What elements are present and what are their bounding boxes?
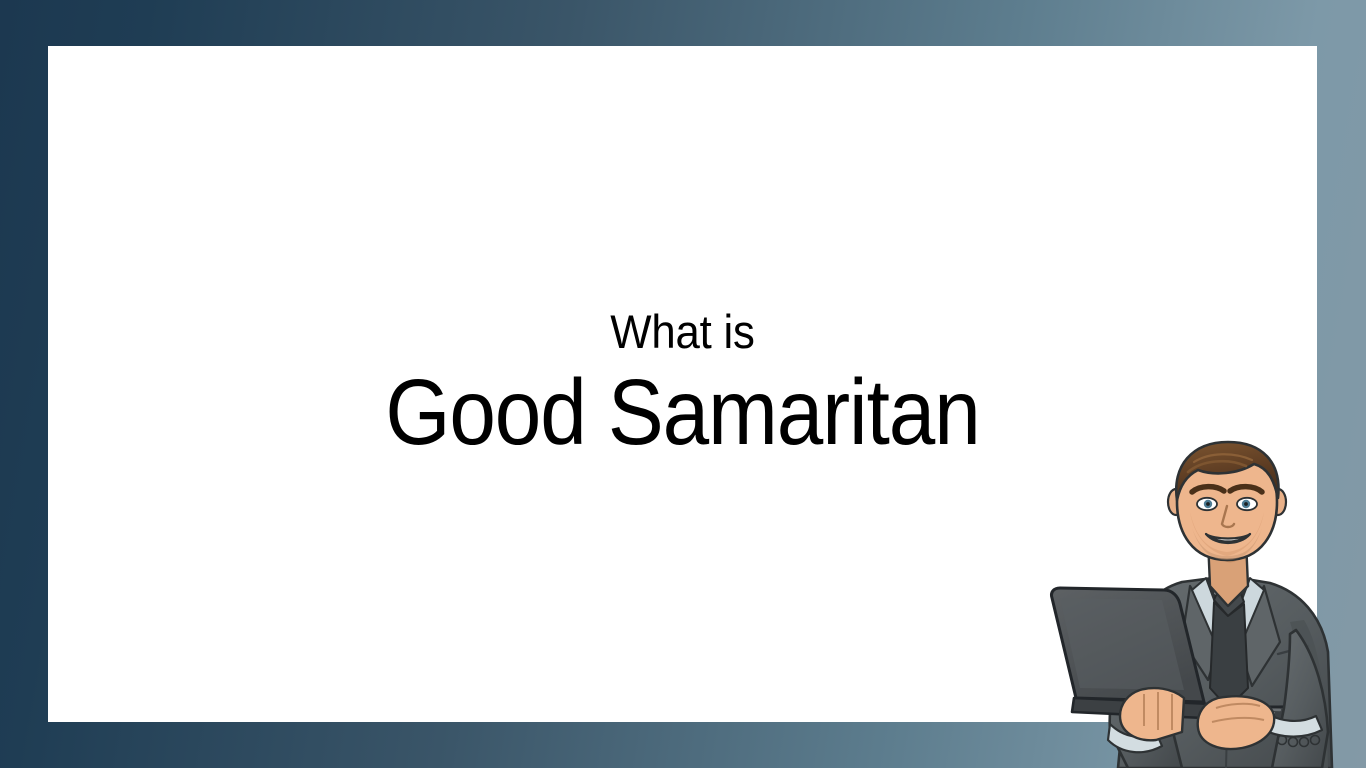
slide-title-block: What is Good Samaritan (48, 304, 1317, 464)
slide-content-panel: What is Good Samaritan (48, 46, 1317, 722)
slide-title-line: Good Samaritan (111, 360, 1253, 464)
presentation-slide: What is Good Samaritan (0, 0, 1366, 768)
slide-subtitle-line: What is (92, 304, 1272, 360)
